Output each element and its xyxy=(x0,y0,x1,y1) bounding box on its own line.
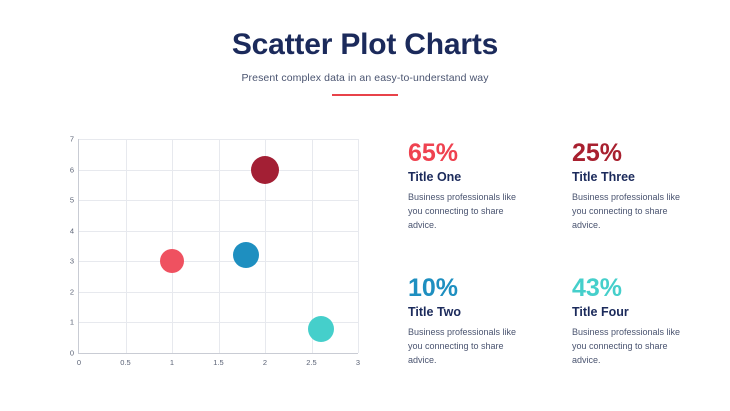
stat-card-4: 43% Title Four Business professionals li… xyxy=(572,275,722,368)
scatter-point[interactable] xyxy=(308,316,334,342)
y-axis-tick-label: 3 xyxy=(70,257,74,266)
stat-title: Title Three xyxy=(572,170,722,184)
x-axis-tick-label: 2.5 xyxy=(306,358,316,367)
stat-description: Business professionals like you connecti… xyxy=(572,191,682,233)
grid-line-horizontal xyxy=(79,231,358,232)
scatter-point[interactable] xyxy=(160,249,184,273)
y-axis-tick-label: 2 xyxy=(70,287,74,296)
page-subtitle: Present complex data in an easy-to-under… xyxy=(0,72,730,84)
stat-description: Business professionals like you connecti… xyxy=(408,191,518,233)
slide-root: Scatter Plot Charts Present complex data… xyxy=(0,0,730,411)
grid-line-horizontal xyxy=(79,292,358,293)
grid-line-horizontal xyxy=(79,139,358,140)
y-axis-tick-label: 1 xyxy=(70,318,74,327)
x-axis-tick-label: 1.5 xyxy=(213,358,223,367)
stat-percent: 25% xyxy=(572,140,722,166)
scatter-point[interactable] xyxy=(233,242,259,268)
stat-percent: 10% xyxy=(408,275,558,301)
y-axis-tick-label: 6 xyxy=(70,165,74,174)
stat-percent: 43% xyxy=(572,275,722,301)
title-divider xyxy=(332,94,398,96)
x-axis-tick-label: 1 xyxy=(170,358,174,367)
x-axis-tick-label: 3 xyxy=(356,358,360,367)
grid-line-horizontal xyxy=(79,261,358,262)
stat-title: Title Four xyxy=(572,305,722,319)
scatter-point[interactable] xyxy=(251,156,279,184)
stat-card-3: 10% Title Two Business professionals lik… xyxy=(408,275,558,368)
y-axis-tick-label: 7 xyxy=(70,135,74,144)
stat-title: Title One xyxy=(408,170,558,184)
stat-description: Business professionals like you connecti… xyxy=(408,326,518,368)
page-title: Scatter Plot Charts xyxy=(0,28,730,62)
grid-line-horizontal xyxy=(79,200,358,201)
stat-percent: 65% xyxy=(408,140,558,166)
grid-line-vertical xyxy=(358,139,359,353)
x-axis-tick-label: 0.5 xyxy=(120,358,130,367)
stat-title: Title Two xyxy=(408,305,558,319)
chart-plot-area: 00.511.522.5301234567 xyxy=(78,139,358,354)
stat-card-1: 65% Title One Business professionals lik… xyxy=(408,140,558,233)
stat-card-2: 25% Title Three Business professionals l… xyxy=(572,140,722,233)
grid-line-vertical xyxy=(126,139,127,353)
y-axis-tick-label: 5 xyxy=(70,196,74,205)
scatter-chart: 00.511.522.5301234567 xyxy=(60,133,365,366)
x-axis-tick-label: 0 xyxy=(77,358,81,367)
grid-line-vertical xyxy=(172,139,173,353)
y-axis-tick-label: 4 xyxy=(70,226,74,235)
grid-line-horizontal xyxy=(79,170,358,171)
y-axis-tick-label: 0 xyxy=(70,349,74,358)
x-axis-tick-label: 2 xyxy=(263,358,267,367)
stat-description: Business professionals like you connecti… xyxy=(572,326,682,368)
grid-line-vertical xyxy=(219,139,220,353)
